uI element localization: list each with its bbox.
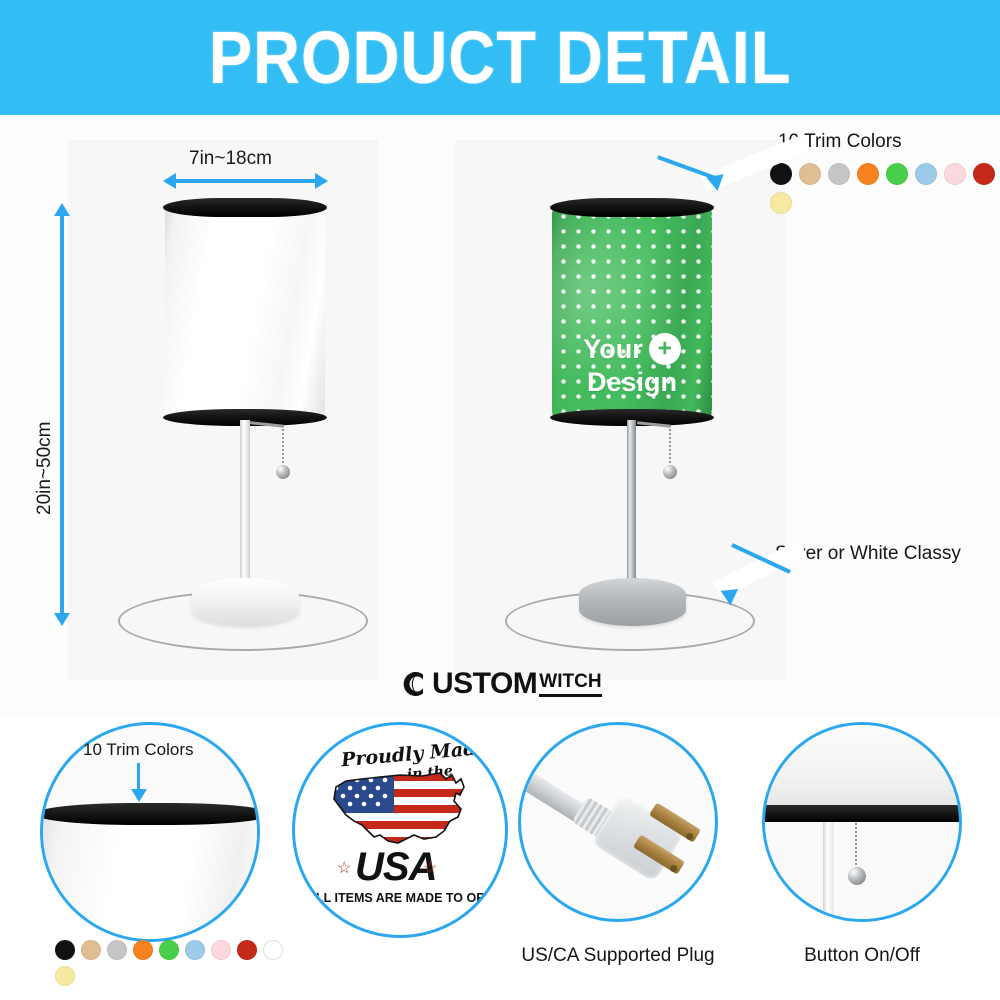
swatch-black[interactable] bbox=[55, 940, 75, 960]
swatch-pink[interactable] bbox=[944, 163, 966, 185]
swatch-light-blue[interactable] bbox=[185, 940, 205, 960]
design-placeholder-artwork: Your + Design bbox=[552, 333, 712, 396]
swatch-gray[interactable] bbox=[107, 940, 127, 960]
swatch-pink[interactable] bbox=[211, 940, 231, 960]
usa-subtitle: ALL ITEMS ARE MADE TO ORDER! bbox=[307, 891, 508, 905]
star-right-icon: ☆ bbox=[423, 858, 437, 878]
dimension-height-label: 20in~50cm bbox=[34, 422, 56, 515]
swatch-green[interactable] bbox=[159, 940, 179, 960]
main-product-stage: 7in~18cm 20in~50cm Your + Design bbox=[0, 115, 1000, 715]
plus-icon: + bbox=[649, 333, 681, 365]
header-banner: PRODUCT DETAIL bbox=[0, 0, 1000, 115]
design-text-line1: Your bbox=[583, 336, 643, 363]
feature-swatch-row-2[interactable] bbox=[55, 966, 75, 986]
pull-chain-ball[interactable] bbox=[663, 465, 677, 479]
pull-chain-ball[interactable] bbox=[276, 465, 290, 479]
feature-trim-arrow-line bbox=[137, 763, 140, 790]
logo-c-icon bbox=[397, 667, 431, 701]
pull-chain bbox=[669, 425, 671, 467]
trim-band-top bbox=[550, 198, 714, 217]
logo-underline bbox=[539, 694, 601, 697]
trim-band-top bbox=[163, 198, 327, 217]
lampshade-surface bbox=[165, 205, 325, 420]
swatch-tan[interactable] bbox=[799, 163, 821, 185]
logo-secondary-text: WITCH bbox=[539, 671, 601, 693]
dimension-width-label: 7in~18cm bbox=[189, 148, 272, 170]
trim-band-closeup bbox=[762, 805, 962, 822]
swatch-black[interactable] bbox=[770, 163, 792, 185]
star-left-icon: ☆ bbox=[337, 858, 351, 878]
feature-plug-caption: US/CA Supported Plug bbox=[508, 945, 728, 967]
swatch-yellow[interactable] bbox=[770, 192, 792, 214]
swatch-light-blue[interactable] bbox=[915, 163, 937, 185]
pull-chain-ball-closeup[interactable] bbox=[848, 867, 866, 885]
swatch-yellow[interactable] bbox=[55, 966, 75, 986]
shade-closeup bbox=[762, 722, 962, 807]
lamp-base-white bbox=[192, 578, 299, 626]
swatch-gray[interactable] bbox=[828, 163, 850, 185]
feature-circle-plug bbox=[518, 722, 718, 922]
logo-primary-text: USTOM bbox=[432, 667, 537, 701]
shade-closeup bbox=[40, 811, 260, 942]
swatch-red[interactable] bbox=[237, 940, 257, 960]
swatch-green[interactable] bbox=[886, 163, 908, 185]
swatch-orange[interactable] bbox=[857, 163, 879, 185]
feature-trim-arrow-head bbox=[131, 789, 147, 802]
logo-secondary-wrap: WITCH bbox=[539, 671, 601, 697]
pull-chain-closeup bbox=[855, 823, 857, 871]
lampshade-green: Your + Design bbox=[552, 205, 712, 420]
swatch-red[interactable] bbox=[973, 163, 995, 185]
page-title: PRODUCT DETAIL bbox=[209, 15, 792, 100]
trim-band-closeup bbox=[40, 803, 260, 825]
feature-trim-inner-label: 10 Trim Colors bbox=[83, 740, 194, 760]
trim-colors-swatch-row-1[interactable] bbox=[770, 163, 1000, 185]
swatch-tan[interactable] bbox=[81, 940, 101, 960]
feature-chain-caption: Button On/Off bbox=[752, 945, 972, 967]
pole-closeup bbox=[823, 822, 834, 922]
swatch-white[interactable] bbox=[263, 940, 283, 960]
lampshade-white bbox=[165, 205, 325, 420]
brand-logo: USTOM WITCH bbox=[397, 667, 602, 701]
feature-swatch-row-1[interactable] bbox=[55, 940, 283, 960]
design-text-line2: Design bbox=[552, 369, 712, 396]
pull-chain bbox=[282, 425, 284, 467]
feature-circle-chain bbox=[762, 722, 962, 922]
trim-colors-swatch-row-2[interactable] bbox=[770, 192, 792, 214]
lamp-base-silver bbox=[579, 578, 686, 626]
feature-circle-usa: Proudly Made in the bbox=[292, 722, 508, 938]
swatch-orange[interactable] bbox=[133, 940, 153, 960]
